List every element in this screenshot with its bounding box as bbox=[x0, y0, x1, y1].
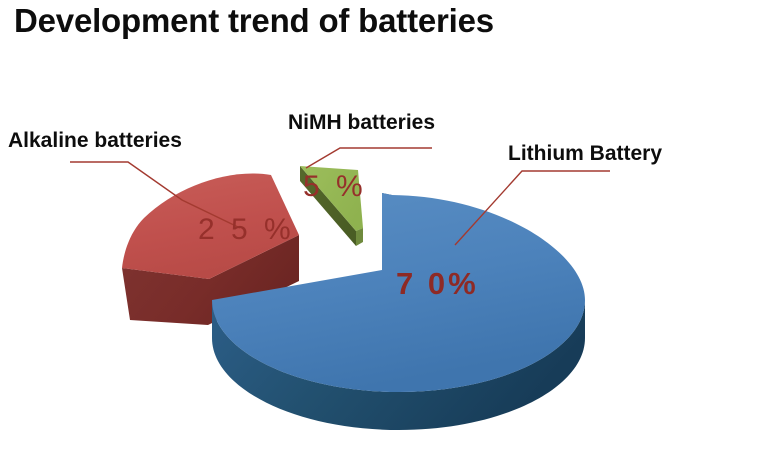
pie-slice-nimh-edge bbox=[356, 228, 363, 246]
slice-value-nimh: 5 % bbox=[303, 170, 367, 204]
slice-label-lithium: Lithium Battery bbox=[508, 142, 662, 166]
pie-chart-graphic bbox=[0, 0, 775, 460]
slice-value-alkaline: 2 5 % bbox=[198, 213, 295, 247]
slice-label-alkaline: Alkaline batteries bbox=[8, 129, 182, 153]
chart-canvas: Development trend of batteries bbox=[0, 0, 775, 460]
slice-value-lithium: 7 0% bbox=[396, 266, 479, 302]
slice-label-nimh: NiMH batteries bbox=[288, 111, 435, 135]
leader-line-nimh bbox=[306, 148, 432, 168]
